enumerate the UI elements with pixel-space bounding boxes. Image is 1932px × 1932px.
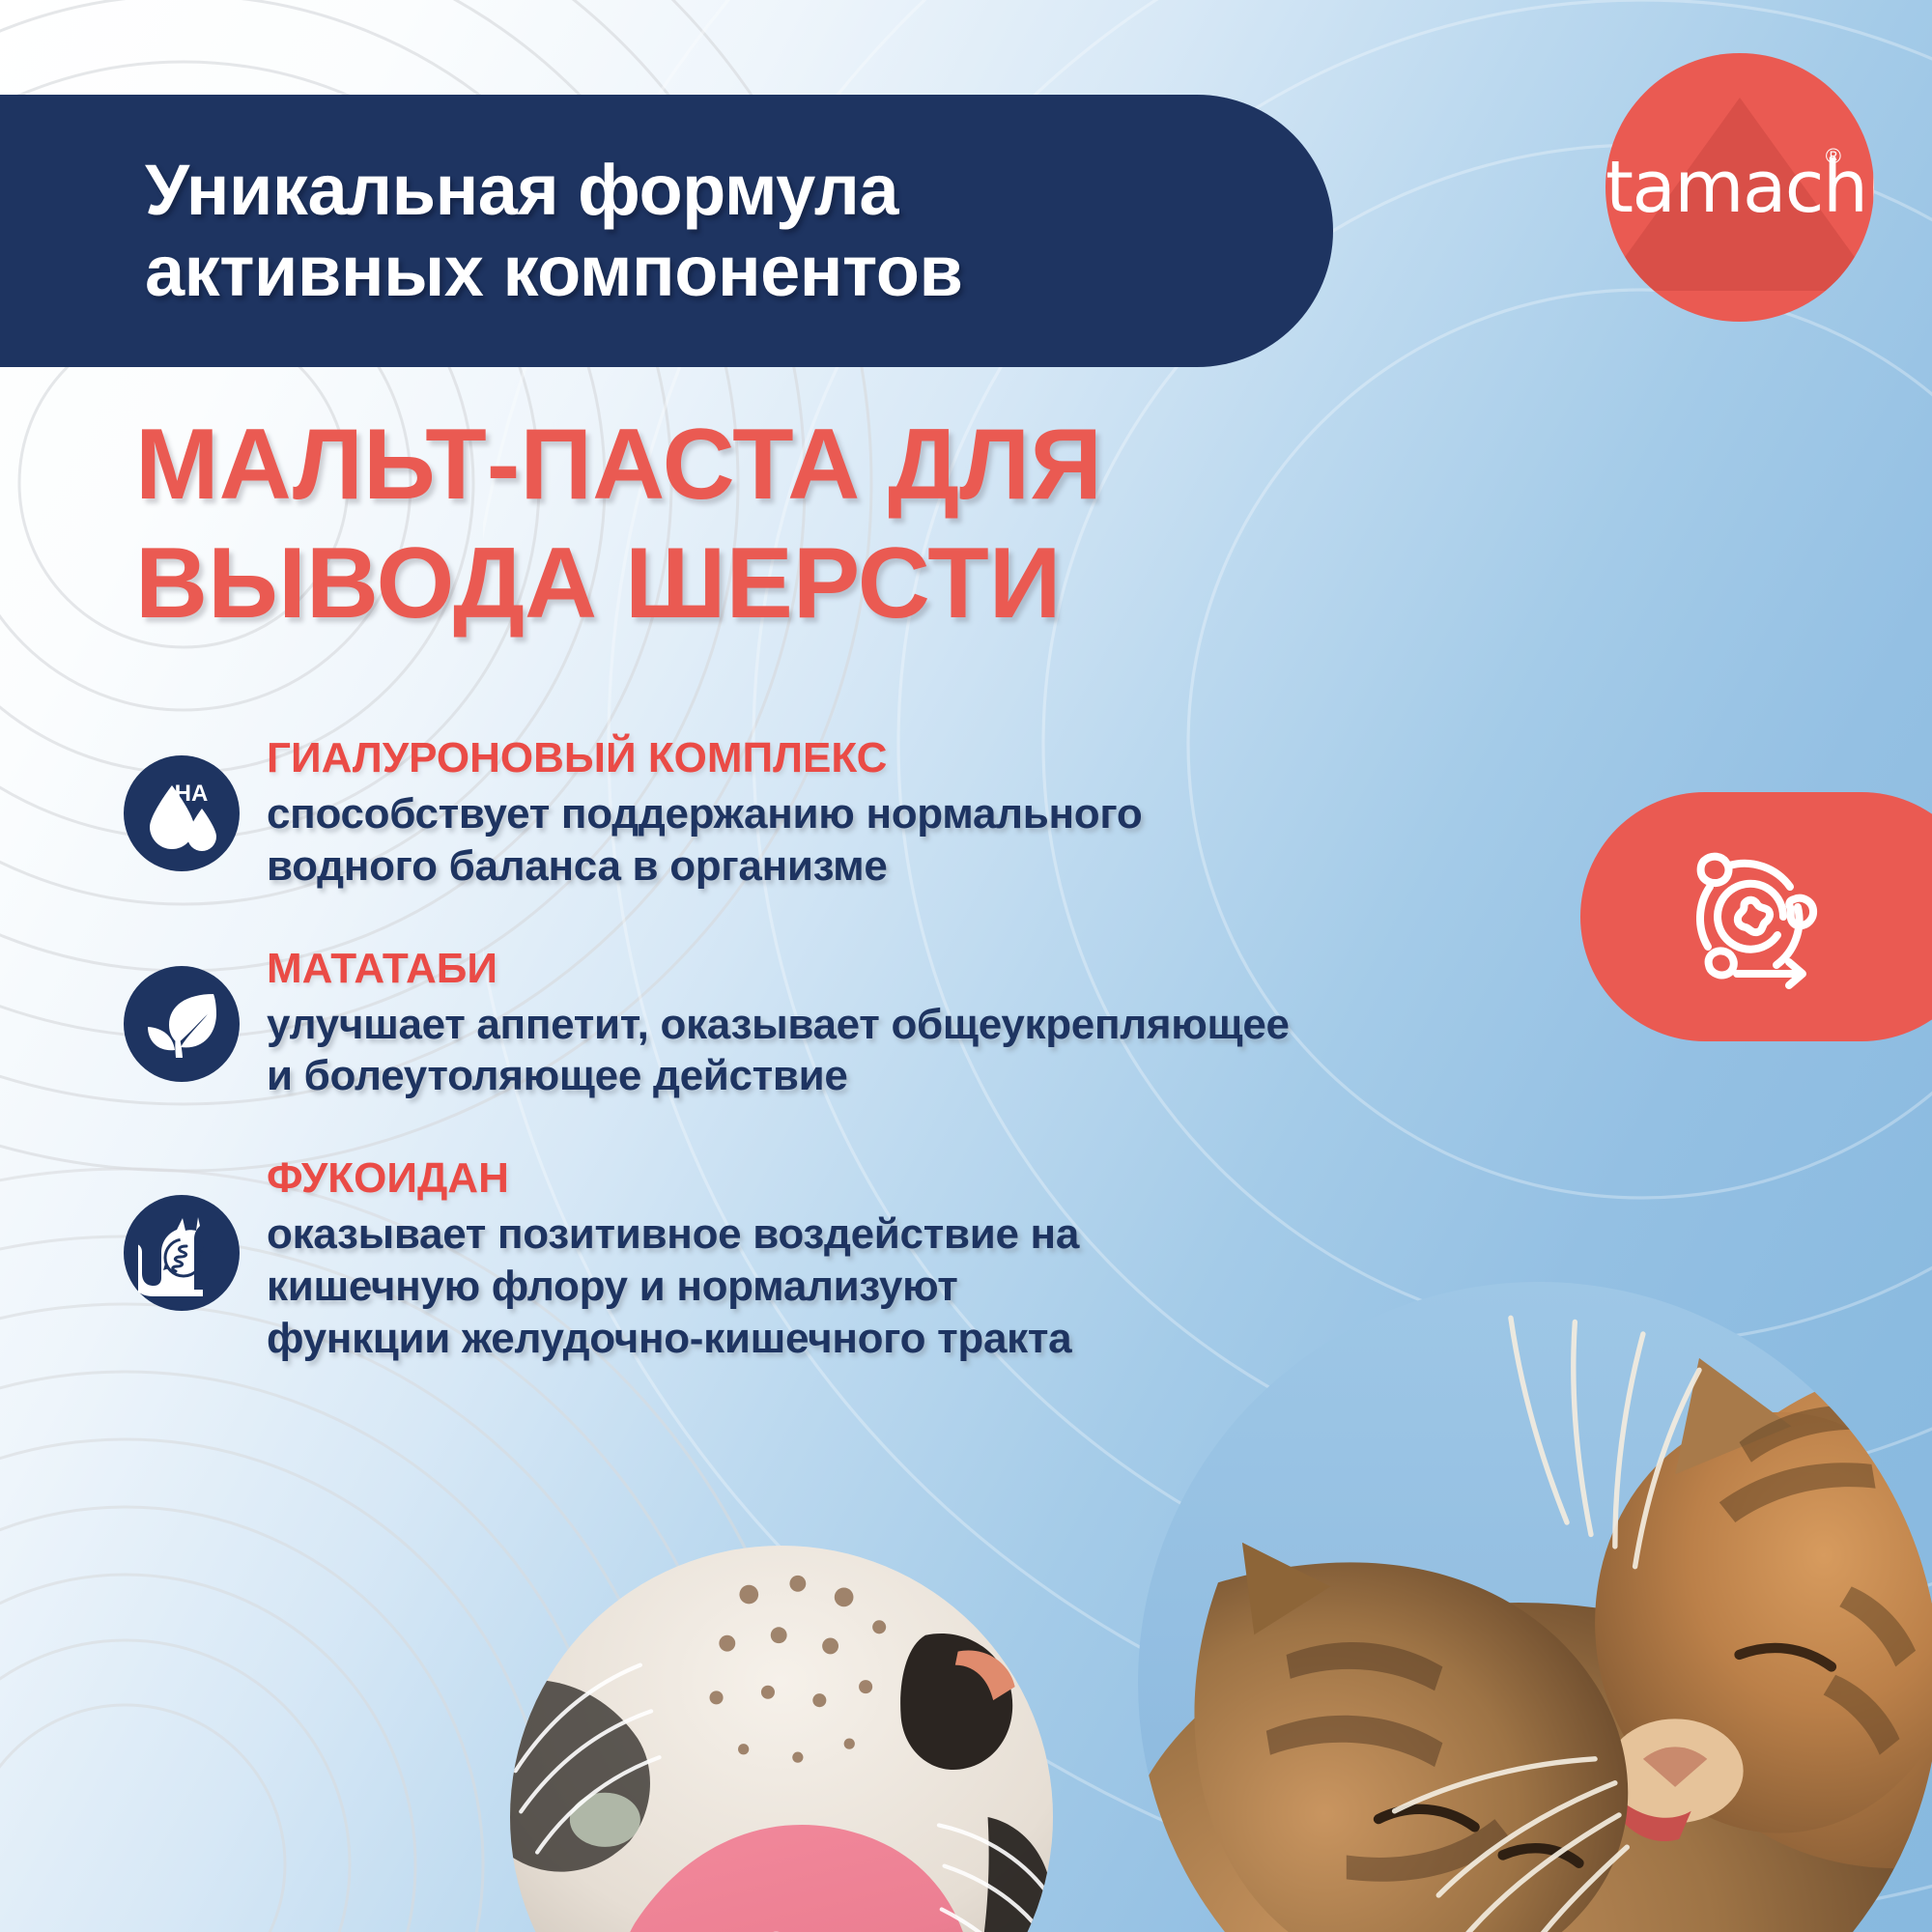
molecule-cycle-arrow-icon — [1669, 836, 1832, 998]
brand-logo[interactable]: tamachi ® — [1605, 53, 1874, 322]
feature-title: ГИАЛУРОНОВЫЙ КОМПЛЕКС — [267, 736, 1142, 781]
registered-trademark-icon: ® — [1826, 146, 1841, 167]
leaf-plant-icon — [124, 966, 240, 1082]
feature-body: ГИАЛУРОНОВЫЙ КОМПЛЕКС способствует подде… — [267, 734, 1142, 893]
eyebrow-title: Уникальная формула активных компонентов — [0, 150, 962, 311]
feature-description: способствует поддержанию нормального вод… — [267, 788, 1142, 892]
svg-text:HA: HA — [175, 781, 209, 807]
feature-description: оказывает позитивное воздействие на кише… — [267, 1208, 1079, 1364]
molecule-badge — [1580, 792, 1932, 1041]
feature-item-hyaluronic: HA ГИАЛУРОНОВЫЙ КОМПЛЕКС способствует по… — [124, 734, 1457, 893]
feature-item-matatabi: МАТАТАБИ улучшает аппетит, оказывает общ… — [124, 945, 1457, 1103]
feature-body: ФУКОИДАН оказывает позитивное воздействи… — [267, 1154, 1079, 1364]
eyebrow-pill: Уникальная формула активных компонентов — [0, 95, 1333, 367]
page-title: МАЛЬТ-ПАСТА ДЛЯ ВЫВОДА ШЕРСТИ — [135, 406, 1430, 642]
poster-canvas: Уникальная формула активных компонентов … — [0, 0, 1932, 1932]
cat-tongue-photo — [510, 1546, 1053, 1932]
water-drops-ha-icon: HA — [124, 755, 240, 871]
feature-list: HA ГИАЛУРОНОВЫЙ КОМПЛЕКС способствует по… — [124, 734, 1457, 1416]
feature-item-fucoidan: ФУКОИДАН оказывает позитивное воздействи… — [124, 1154, 1457, 1364]
feature-body: МАТАТАБИ улучшает аппетит, оказывает общ… — [267, 945, 1290, 1103]
cat-digestive-tract-icon — [124, 1195, 240, 1311]
feature-description: улучшает аппетит, оказывает общеукрепляю… — [267, 999, 1290, 1102]
feature-title: ФУКОИДАН — [267, 1156, 1079, 1201]
cat-tongue-illustration — [510, 1546, 1053, 1932]
feature-title: МАТАТАБИ — [267, 947, 1290, 991]
